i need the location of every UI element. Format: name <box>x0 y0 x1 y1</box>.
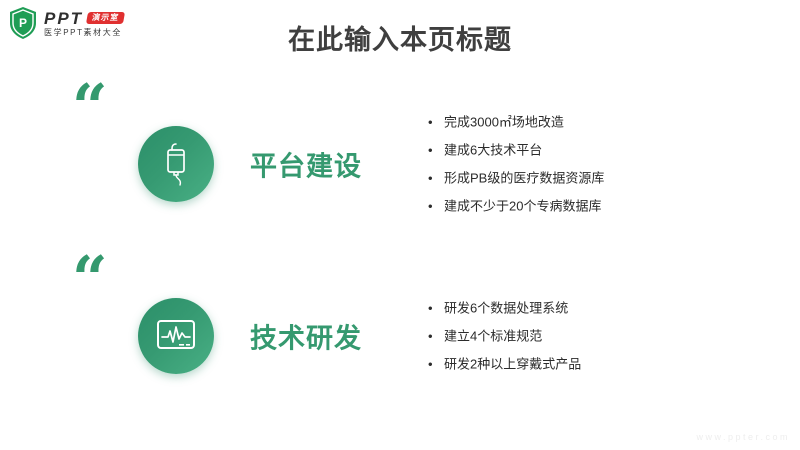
bullet-text: 建成不少于20个专病数据库 <box>444 200 601 213</box>
page-title: 在此输入本页标题 <box>0 18 800 57</box>
list-item: • 建成6大技术平台 <box>428 144 604 157</box>
bullet-text: 形成PB级的医疗数据资源库 <box>444 172 604 185</box>
icon-badge-platform <box>138 126 214 202</box>
list-item: • 形成PB级的医疗数据资源库 <box>428 172 604 185</box>
bullet-marker: • <box>428 172 444 185</box>
bullet-text: 建立4个标准规范 <box>444 330 542 343</box>
content-card-platform: 平台建设 • 完成3000㎡场地改造 • 建成6大技术平台 • 形成PB级的医疗… <box>68 86 740 242</box>
bullet-text: 研发2种以上穿戴式产品 <box>444 358 581 371</box>
quote-mark-icon: “ <box>72 248 108 310</box>
bullet-text: 完成3000㎡场地改造 <box>444 116 564 129</box>
list-item: • 建立4个标准规范 <box>428 330 581 343</box>
bullet-marker: • <box>428 144 444 157</box>
bullet-list-rnd: • 研发6个数据处理系统 • 建立4个标准规范 • 研发2种以上穿戴式产品 <box>428 302 581 371</box>
bullet-text: 研发6个数据处理系统 <box>444 302 568 315</box>
bullet-list-platform: • 完成3000㎡场地改造 • 建成6大技术平台 • 形成PB级的医疗数据资源库… <box>428 116 604 213</box>
list-item: • 完成3000㎡场地改造 <box>428 116 604 129</box>
quote-mark-icon: “ <box>72 76 108 138</box>
site-watermark: www.ppter.com <box>696 432 790 442</box>
bullet-marker: • <box>428 330 444 343</box>
list-item: • 研发6个数据处理系统 <box>428 302 581 315</box>
bullet-marker: • <box>428 358 444 371</box>
bullet-marker: • <box>428 302 444 315</box>
iv-drip-icon <box>159 142 193 186</box>
icon-badge-rnd <box>138 298 214 374</box>
ecg-monitor-icon <box>155 318 197 354</box>
list-item: • 研发2种以上穿戴式产品 <box>428 358 581 371</box>
bullet-marker: • <box>428 200 444 213</box>
content-card-rnd: 技术研发 • 研发6个数据处理系统 • 建立4个标准规范 • 研发2种以上穿戴式… <box>68 258 740 414</box>
bullet-marker: • <box>428 116 444 129</box>
card-heading-platform: 平台建设 <box>250 145 362 184</box>
bullet-text: 建成6大技术平台 <box>444 144 542 157</box>
list-item: • 建成不少于20个专病数据库 <box>428 200 604 213</box>
card-heading-rnd: 技术研发 <box>250 317 362 356</box>
